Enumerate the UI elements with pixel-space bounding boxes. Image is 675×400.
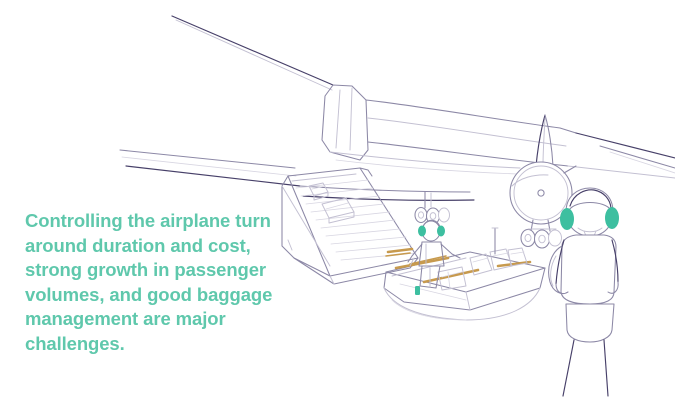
ear-defenders [437, 226, 445, 237]
ear-defenders [605, 207, 619, 229]
ear-defenders [560, 208, 574, 230]
ear-defenders [418, 226, 426, 237]
slide-canvas: .ln-d { fill:none; stroke:#474069; strok… [0, 0, 675, 400]
slide-caption: Controlling the airplane turn around dur… [25, 209, 295, 357]
cart-marker-light [415, 286, 420, 295]
